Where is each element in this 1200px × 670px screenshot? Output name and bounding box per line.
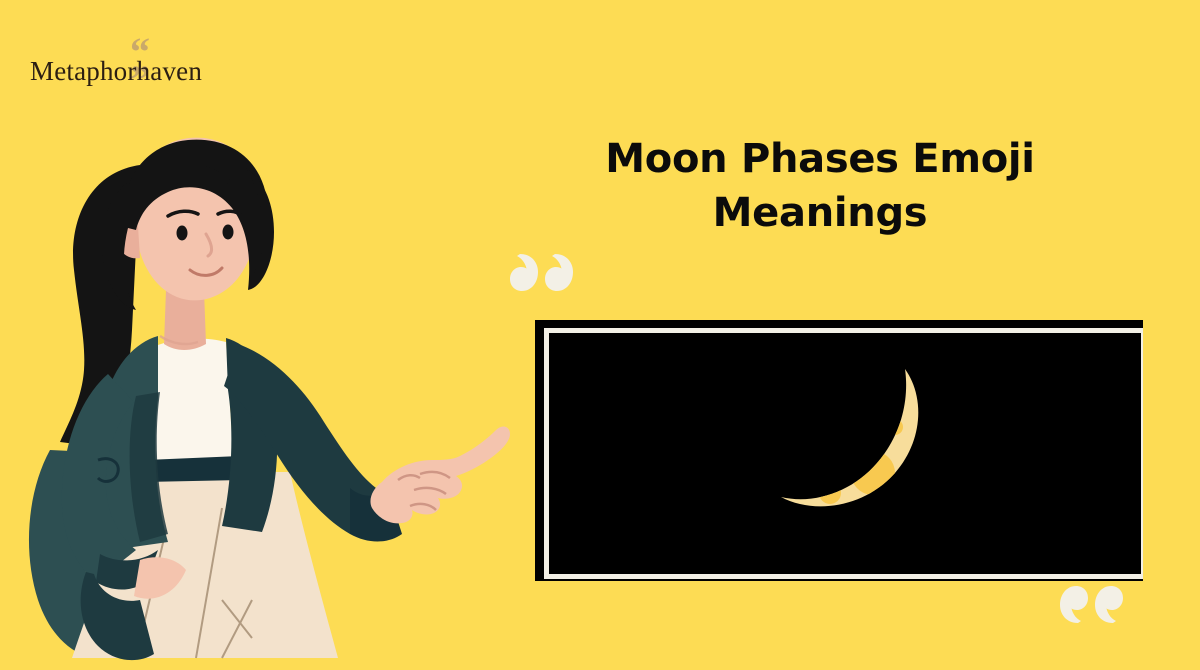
blouse <box>150 338 234 470</box>
crescent-moon-icon <box>755 355 945 545</box>
eye-right <box>223 225 234 240</box>
banner-canvas: “ ” Metaphorhaven Moon Phases Emoji Mean… <box>0 0 1200 670</box>
media-panel <box>535 320 1143 581</box>
woman-pointing-illustration <box>0 130 510 670</box>
decorative-close-quote-icon <box>1058 575 1128 627</box>
brand-logo[interactable]: “ ” Metaphorhaven <box>30 38 270 108</box>
media-block <box>500 288 1160 588</box>
page-title: Moon Phases Emoji Meanings <box>520 132 1120 240</box>
belt <box>144 456 242 482</box>
pointing-hand <box>370 427 510 524</box>
page-title-line-1: Moon Phases Emoji <box>520 132 1120 186</box>
page-title-line-2: Meanings <box>520 186 1120 240</box>
brand-wordmark: Metaphorhaven <box>30 56 202 87</box>
eye-left <box>177 226 188 241</box>
